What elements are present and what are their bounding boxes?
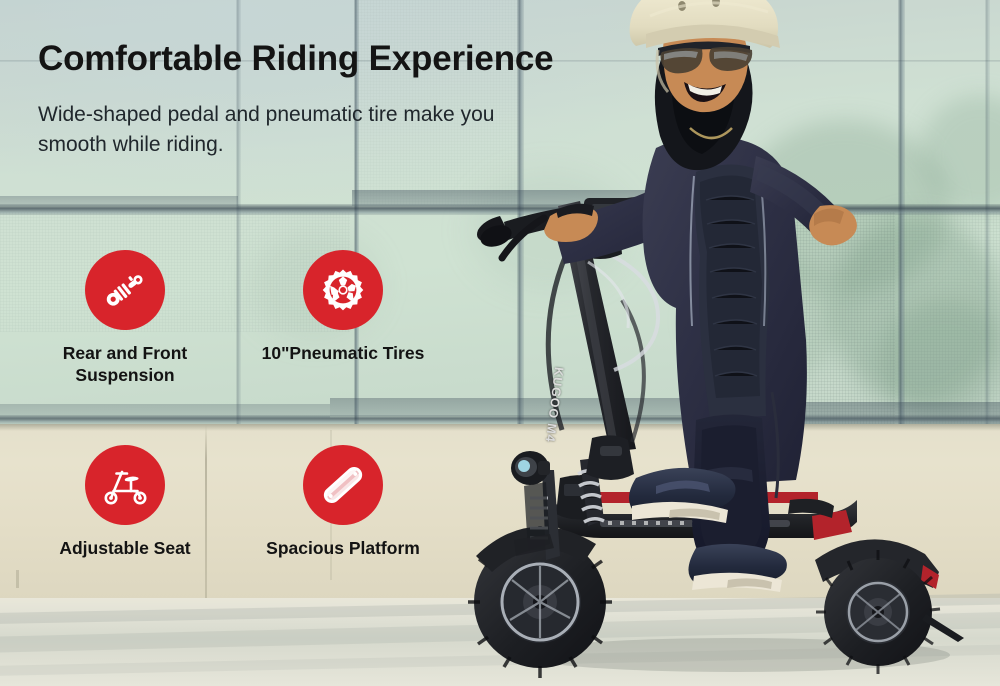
feature-platform: Spacious Platform [238, 445, 448, 560]
wheel-badge [303, 250, 383, 330]
feature-label: Rear and Front Suspension [20, 343, 230, 387]
seated-scooter-badge [85, 445, 165, 525]
seated-scooter-icon [101, 463, 149, 507]
feature-tires: 10"Pneumatic Tires [238, 250, 448, 365]
feature-label: Spacious Platform [238, 538, 448, 560]
feature-label: 10"Pneumatic Tires [238, 343, 448, 365]
spandrel-panel [0, 404, 330, 418]
deck-platform-badge [303, 445, 383, 525]
page-subtitle: Wide-shaped pedal and pneumatic tire mak… [38, 100, 508, 160]
feature-suspension: Rear and Front Suspension [20, 250, 230, 387]
feature-label: Adjustable Seat [20, 538, 230, 560]
spandrel-panel [0, 196, 238, 206]
shock-absorber-icon [102, 267, 148, 313]
rider-and-scooter-photo [460, 0, 1000, 686]
page-title: Comfortable Riding Experience [38, 40, 553, 79]
feature-seat: Adjustable Seat [20, 445, 230, 560]
wall-blemish [16, 570, 19, 588]
product-feature-banner: KUGOO M4 Comfortable Riding Experience W… [0, 0, 1000, 686]
wheel-icon [320, 267, 366, 313]
deck-platform-icon [318, 460, 368, 510]
shock-absorber-badge [85, 250, 165, 330]
